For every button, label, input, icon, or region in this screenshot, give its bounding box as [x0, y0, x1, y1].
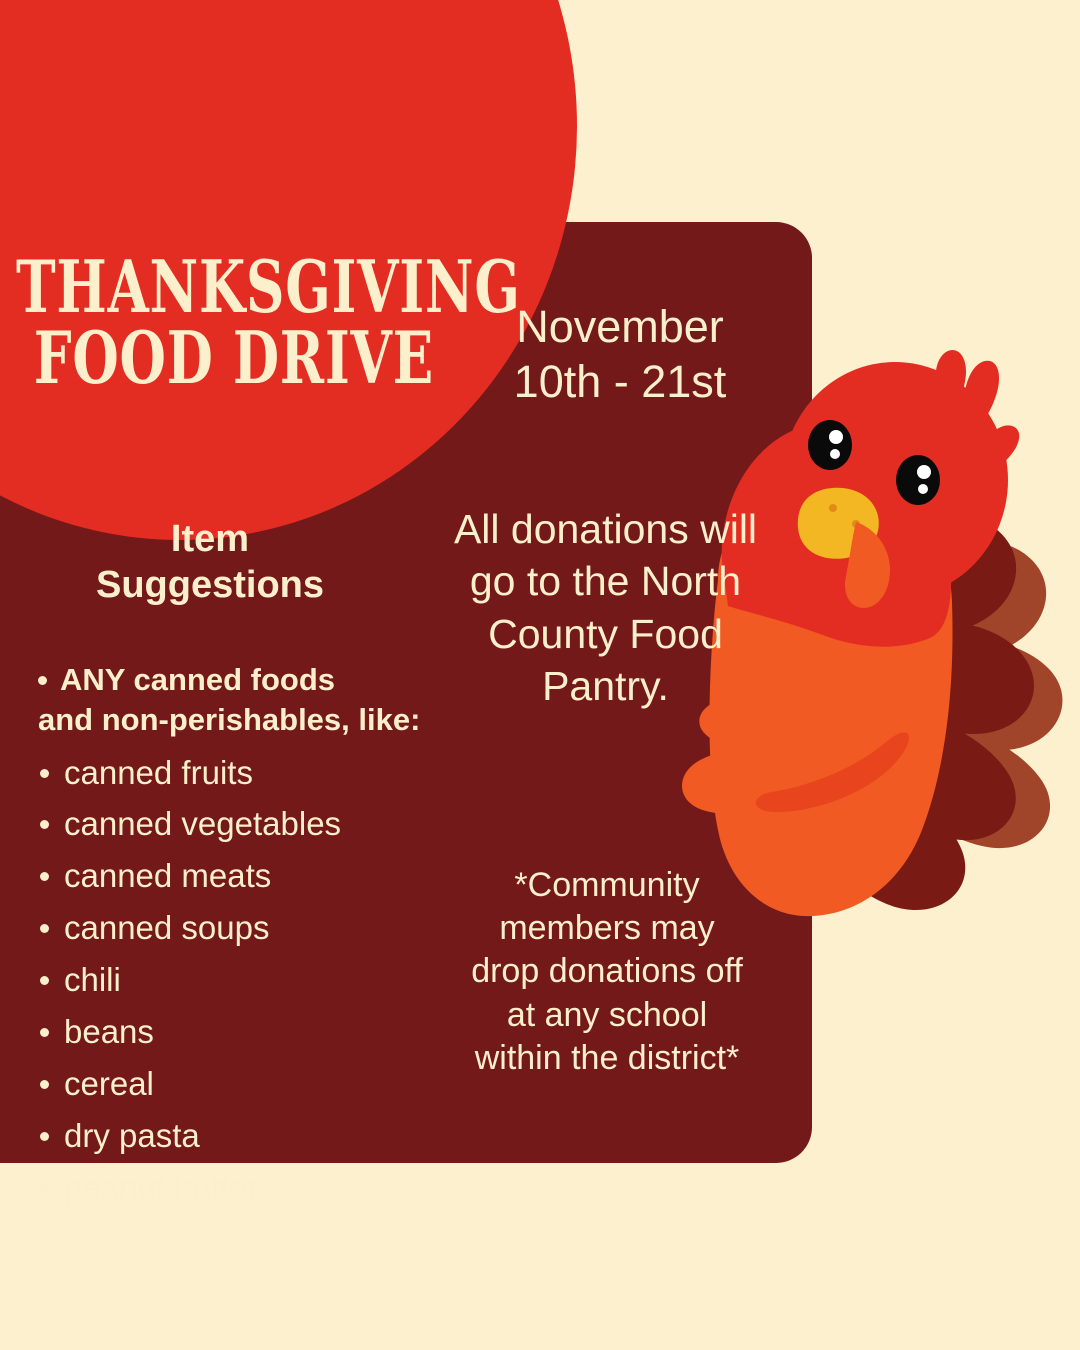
community-note-line: drop donations off [432, 950, 782, 993]
community-note-line: *Community [432, 864, 782, 907]
community-drop-off-note: *Community members may drop donations of… [432, 864, 782, 1080]
list-item: cereal [18, 1063, 438, 1106]
list-item: canned soups [18, 907, 438, 950]
date-line-1: November [470, 300, 770, 355]
community-note-line: at any school [432, 994, 782, 1037]
poster-canvas: Thanksgiving Food Drive November 10th - … [0, 0, 1080, 1350]
item-suggestions-list: ANY canned foods and non-perishables, li… [18, 660, 438, 1219]
lead-line-2: and non-perishables, like: [38, 700, 438, 740]
donation-destination-note: All donations will go to the North Count… [428, 503, 783, 713]
date-line-2: 10th - 21st [470, 355, 770, 410]
list-item: canned meats [18, 855, 438, 898]
item-suggestions-heading: Item Suggestions [30, 516, 390, 609]
list-item-lead: ANY canned foods and non-perishables, li… [18, 660, 438, 741]
community-note-line: within the district* [432, 1037, 782, 1080]
turkey-eye-right [896, 455, 940, 505]
suggestions-heading-line-1: Item [30, 516, 390, 562]
page-title: Thanksgiving Food Drive [16, 252, 364, 393]
community-note-line: members may [432, 907, 782, 950]
event-dates: November 10th - 21st [470, 300, 770, 410]
turkey-eye-left [808, 420, 852, 470]
list-item: canned vegetables [18, 803, 438, 846]
title-line-2: Food Drive [16, 323, 364, 394]
list-item: peanut butter [18, 1167, 438, 1210]
list-item: chili [18, 959, 438, 1002]
list-item: beans [18, 1011, 438, 1054]
list-item: canned fruits [18, 752, 438, 795]
lead-line-1: ANY canned foods [60, 662, 335, 697]
turkey-nostril-icon [829, 504, 837, 512]
list-item: dry pasta [18, 1115, 438, 1158]
turkey-head [782, 362, 1008, 598]
title-line-1: Thanksgiving [16, 252, 364, 323]
suggestions-heading-line-2: Suggestions [30, 562, 390, 608]
